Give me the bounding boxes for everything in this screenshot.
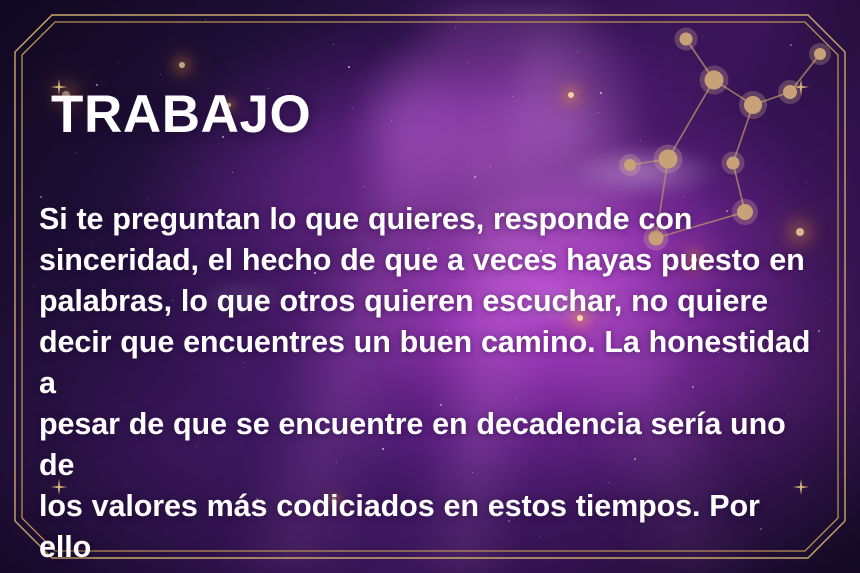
body-text-line: palabras, lo que otros quieren escuchar,… — [39, 284, 768, 318]
horoscope-body-text: Si te preguntan lo que quieres, responde… — [39, 199, 819, 573]
body-text-line: decir que encuentres un buen camino. La … — [39, 325, 810, 400]
page-title: TRABAJO — [51, 88, 311, 141]
horoscope-card: TRABAJO Si te preguntan lo que quieres, … — [0, 0, 860, 573]
body-text-line: Si te preguntan lo que quieres, responde… — [39, 202, 692, 236]
card-content: TRABAJO Si te preguntan lo que quieres, … — [51, 0, 811, 573]
body-text-line: pesar de que se encuentre en decadencia … — [39, 407, 786, 482]
body-text-line: sinceridad, el hecho de que a veces haya… — [39, 243, 805, 277]
body-text-line: los valores más codiciados en estos tiem… — [39, 489, 760, 564]
